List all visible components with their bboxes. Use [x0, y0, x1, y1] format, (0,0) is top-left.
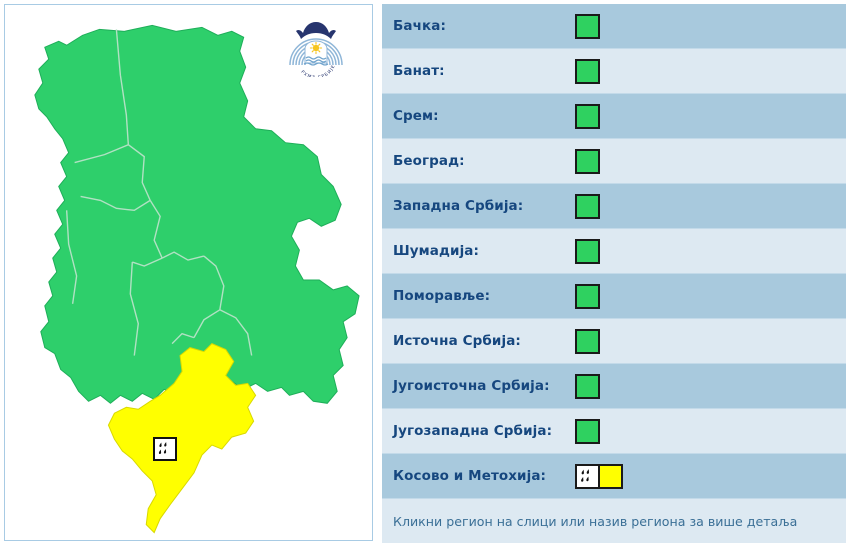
legend-row-backa[interactable]: Бачка:	[382, 4, 846, 49]
legend-row-pomoravlje[interactable]: Поморавље:	[382, 274, 846, 319]
alert-swatch-yellow	[598, 464, 623, 489]
swatch-cell	[575, 104, 600, 129]
map-panel: РХМЗ СРБИЈЕ	[4, 4, 373, 541]
legend-row-beograd[interactable]: Београд:	[382, 139, 846, 184]
swatch-cell	[575, 464, 623, 489]
alert-swatch-green	[575, 284, 600, 309]
serbia-map[interactable]	[5, 5, 372, 540]
rain-icon[interactable]	[153, 437, 177, 461]
legend-row-istocna-srbija[interactable]: Источна Србија:	[382, 319, 846, 364]
weather-warning-page: РХМЗ СРБИЈЕ Бачка: Банат: Срем: Беогр	[0, 0, 850, 554]
swatch-cell	[575, 374, 600, 399]
swatch-cell	[575, 59, 600, 84]
legend-row-jugozapadna-srbija[interactable]: Југозападна Србија:	[382, 409, 846, 454]
swatch-cell	[575, 14, 600, 39]
legend-row-jugoistocna-srbija[interactable]: Југоисточна Србија:	[382, 364, 846, 409]
swatch-cell	[575, 329, 600, 354]
legend-panel: Бачка: Банат: Срем: Београд: Западна Срб	[382, 4, 846, 541]
region-label-jugoistocna-srbija[interactable]: Југоисточна Србија:	[393, 378, 575, 394]
legend-row-zapadna-srbija[interactable]: Западна Србија:	[382, 184, 846, 229]
swatch-cell	[575, 149, 600, 174]
region-label-pomoravlje[interactable]: Поморавље:	[393, 288, 575, 304]
region-label-banat[interactable]: Банат:	[393, 63, 575, 79]
alert-swatch-green	[575, 194, 600, 219]
alert-swatch-green	[575, 104, 600, 129]
region-label-backa[interactable]: Бачка:	[393, 18, 575, 34]
svg-text:РХМЗ СРБИЈЕ: РХМЗ СРБИЈЕ	[299, 63, 336, 77]
swatch-cell	[575, 194, 600, 219]
swatch-cell	[575, 419, 600, 444]
alert-swatch-green	[575, 239, 600, 264]
alert-swatch-green	[575, 329, 600, 354]
swatch-pair	[575, 464, 623, 489]
alert-swatch-green	[575, 419, 600, 444]
legend-footer-hint: Кликни регион на слици или назив региона…	[382, 499, 846, 543]
alert-swatch-green	[575, 149, 600, 174]
alert-swatch-green	[575, 374, 600, 399]
map-region-green-body[interactable]	[35, 25, 359, 403]
legend-row-banat[interactable]: Банат:	[382, 49, 846, 94]
swatch-cell	[575, 284, 600, 309]
legend-row-kosovo-i-metohija[interactable]: Косово и Метохија:	[382, 454, 846, 499]
region-label-jugozapadna-srbija[interactable]: Југозападна Србија:	[393, 423, 575, 439]
region-label-srem[interactable]: Срем:	[393, 108, 575, 124]
rhmz-srbije-logo: РХМЗ СРБИЈЕ	[288, 15, 344, 77]
region-label-zapadna-srbija[interactable]: Западна Србија:	[393, 198, 575, 214]
alert-swatch-green	[575, 14, 600, 39]
alert-swatch-green	[575, 59, 600, 84]
rain-icon	[575, 464, 600, 489]
swatch-cell	[575, 239, 600, 264]
region-label-kosovo-i-metohija[interactable]: Косово и Метохија:	[393, 468, 575, 484]
region-label-sumadija[interactable]: Шумадија:	[393, 243, 575, 259]
region-label-beograd[interactable]: Београд:	[393, 153, 575, 169]
legend-row-srem[interactable]: Срем:	[382, 94, 846, 139]
region-label-istocna-srbija[interactable]: Источна Србија:	[393, 333, 575, 349]
legend-footer-text: Кликни регион на слици или назив региона…	[393, 514, 797, 529]
legend-row-sumadija[interactable]: Шумадија:	[382, 229, 846, 274]
